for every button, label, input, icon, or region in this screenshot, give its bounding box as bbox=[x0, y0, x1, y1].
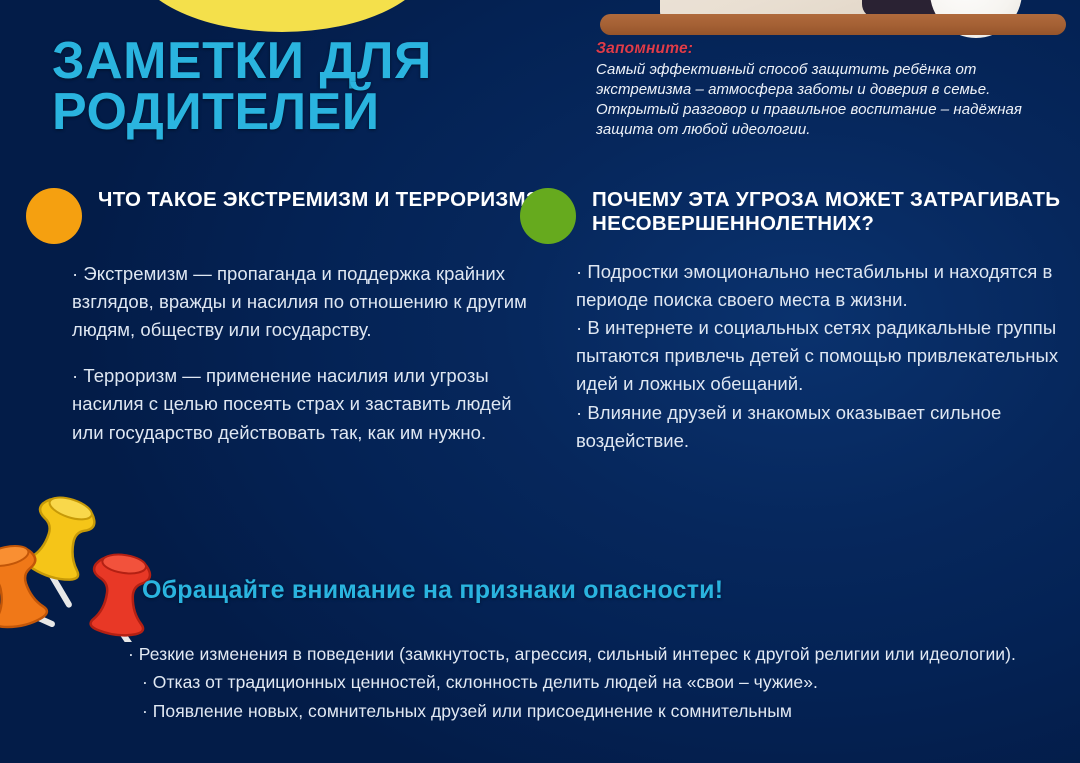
list-item: · Появление новых, сомнительных друзей и… bbox=[128, 697, 1064, 725]
section-paragraph: · Подростки эмоционально нестабильны и н… bbox=[576, 258, 1068, 314]
section-minors: ПОЧЕМУ ЭТА УГРОЗА МОЖЕТ ЗАТРАГИВАТЬ НЕСО… bbox=[520, 186, 1068, 455]
photo-brown-bar bbox=[600, 14, 1066, 35]
section-body: · Экстремизм — пропаганда и поддержка кр… bbox=[26, 260, 546, 447]
section-heading: ЧТО ТАКОЕ ЭКСТРЕМИЗМ И ТЕРРОРИЗМ? bbox=[98, 186, 539, 212]
section-paragraph: · Терроризм — применение насилия или угр… bbox=[72, 362, 546, 446]
section-paragraph: · Экстремизм — пропаганда и поддержка кр… bbox=[72, 260, 546, 344]
section-heading: ПОЧЕМУ ЭТА УГРОЗА МОЖЕТ ЗАТРАГИВАТЬ НЕСО… bbox=[592, 186, 1068, 236]
danger-heading: Обращайте внимание на признаки опасности… bbox=[142, 576, 723, 605]
section-header: ПОЧЕМУ ЭТА УГРОЗА МОЖЕТ ЗАТРАГИВАТЬ НЕСО… bbox=[520, 186, 1068, 244]
section-header: ЧТО ТАКОЕ ЭКСТРЕМИЗМ И ТЕРРОРИЗМ? bbox=[26, 186, 546, 244]
remember-paragraph: Открытый разговор и правильное воспитани… bbox=[596, 100, 1048, 140]
remember-block: Запомните: Самый эффективный способ защи… bbox=[596, 40, 1048, 140]
section-paragraph: · Влияние друзей и знакомых оказывает си… bbox=[576, 399, 1068, 455]
list-item: · Резкие изменения в поведении (замкнуто… bbox=[128, 640, 1064, 668]
remember-body: Самый эффективный способ защитить ребёнк… bbox=[596, 60, 1048, 140]
green-circle-icon bbox=[520, 188, 576, 244]
sun-shape bbox=[132, 0, 432, 32]
page-title-line: РОДИТЕЛЕЙ bbox=[52, 87, 572, 138]
remember-title: Запомните: bbox=[596, 40, 1048, 58]
page-title-line: ЗАМЕТКИ ДЛЯ bbox=[52, 36, 572, 87]
danger-list: · Резкие изменения в поведении (замкнуто… bbox=[128, 640, 1064, 725]
page-title: ЗАМЕТКИ ДЛЯ РОДИТЕЛЕЙ bbox=[52, 36, 572, 138]
list-item: · Отказ от традиционных ценностей, склон… bbox=[128, 668, 1064, 696]
section-paragraph: · В интернете и социальных сетях радикал… bbox=[576, 314, 1068, 398]
section-extremism: ЧТО ТАКОЕ ЭКСТРЕМИЗМ И ТЕРРОРИЗМ? · Экст… bbox=[26, 186, 546, 447]
pushpins-group bbox=[0, 482, 172, 642]
orange-circle-icon bbox=[26, 188, 82, 244]
parents-notes-poster: Запомните: Самый эффективный способ защи… bbox=[0, 0, 1080, 763]
section-body: · Подростки эмоционально нестабильны и н… bbox=[520, 258, 1068, 455]
remember-paragraph: Самый эффективный способ защитить ребёнк… bbox=[596, 60, 1048, 100]
